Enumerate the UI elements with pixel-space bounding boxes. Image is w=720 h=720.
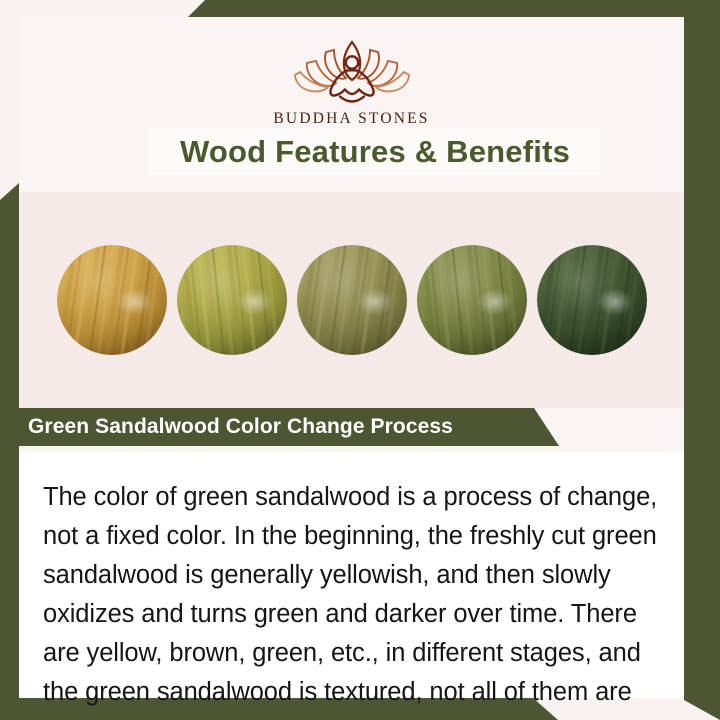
body-paragraph: The color of green sandalwood is a proce…	[43, 478, 660, 720]
infographic-canvas: BUDDHA STONES Wood Features & Benefits G…	[0, 0, 720, 720]
bead-shading	[417, 245, 527, 355]
section-banner-title: Green Sandalwood Color Change Process	[19, 415, 453, 439]
bead-gallery	[19, 192, 684, 408]
bead-shading	[537, 245, 647, 355]
bead-stage-5-dark-green	[537, 245, 647, 355]
body-panel: The color of green sandalwood is a proce…	[19, 452, 684, 698]
bead-stage-2-yellow-green	[177, 245, 287, 355]
bead-shading	[177, 245, 287, 355]
page-title: Wood Features & Benefits	[180, 134, 570, 170]
brand-header: BUDDHA STONES	[19, 17, 684, 128]
section-banner: Green Sandalwood Color Change Process	[19, 408, 559, 446]
brand-wordmark: BUDDHA STONES	[273, 110, 429, 128]
frame-right-bar	[684, 0, 720, 720]
content-card: BUDDHA STONES Wood Features & Benefits G…	[19, 17, 684, 698]
frame-top-bar	[0, 0, 720, 17]
bead-shading	[297, 245, 407, 355]
bead-stage-3-olive-brown	[297, 245, 407, 355]
bead-stage-1-yellowish	[57, 245, 167, 355]
page-title-box: Wood Features & Benefits	[150, 128, 600, 175]
lotus-meditation-icon	[288, 36, 416, 106]
bead-shading	[57, 245, 167, 355]
bead-stage-4-olive-green	[417, 245, 527, 355]
frame-left-bar	[0, 183, 19, 720]
